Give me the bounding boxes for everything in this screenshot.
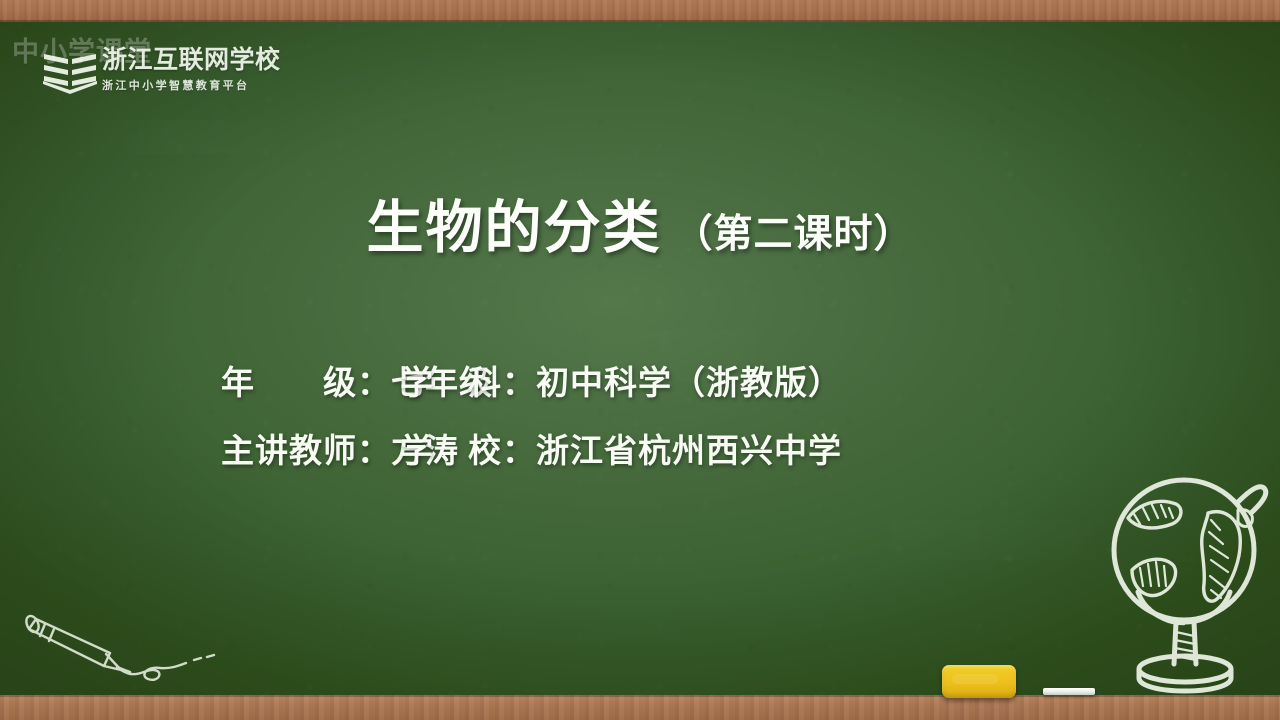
brand-platform: 浙江中小学智慧教育平台 [102,77,312,93]
meta-subject: 学 科：初中科学（浙教版） [400,366,842,402]
meta-teacher-cell: 主讲教师：方涛 [0,424,400,472]
meta-row: 年 级：七年级 学 科：初中科学（浙教版） [0,356,1280,424]
blackboard-eraser-icon [942,665,1016,698]
slide-cover: 中小学课堂 浙江互联网学校 浙江中小学智慧教育平台 生物的分类 （第二课时） 年 [0,0,1280,720]
blackboard-top-frame [0,0,1280,22]
brand-name: 浙江互联网学校 [102,46,312,74]
meta-row: 主讲教师：方涛 学 校：浙江省杭州西兴中学 [0,424,1280,492]
chalk-globe-icon [1098,458,1276,698]
lesson-meta: 年 级：七年级 学 科：初中科学（浙教版） 主讲教师：方涛 学 校：浙江省杭州西… [0,356,1280,492]
platform-branding: 中小学课堂 浙江互联网学校 浙江中小学智慧教育平台 [12,24,312,96]
lesson-title-sub: （第二课时） [673,203,913,259]
lesson-title-main: 生物的分类 [366,182,661,264]
meta-school: 学 校：浙江省杭州西兴中学 [400,434,842,470]
brand-text-block: 浙江互联网学校 浙江中小学智慧教育平台 [102,46,312,93]
meta-grade-cell: 年 级：七年级 [0,356,400,404]
meta-school-cell: 学 校：浙江省杭州西兴中学 [400,424,842,472]
blackboard-ledge [0,695,1280,720]
open-book-icon [42,50,98,94]
meta-subject-cell: 学 科：初中科学（浙教版） [400,356,842,404]
lesson-title: 生物的分类 （第二课时） [0,182,1280,264]
chalk-stick-icon [1043,688,1095,695]
chalk-pencil-icon [18,597,238,692]
